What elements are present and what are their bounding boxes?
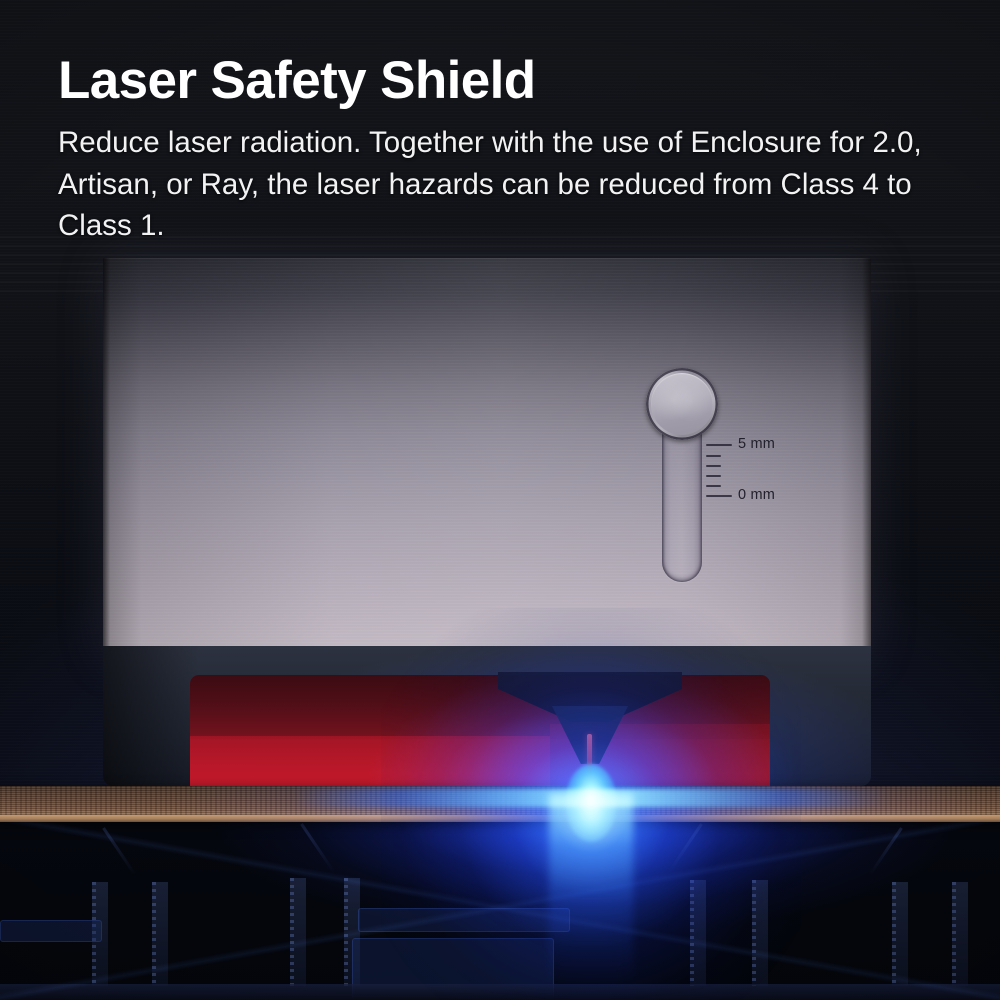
bed-slat — [892, 882, 908, 986]
shield-left-edge — [103, 258, 110, 660]
scale-tick — [706, 485, 721, 487]
bed-slat — [152, 882, 168, 986]
table-front-edge — [0, 815, 1000, 822]
scale-tick — [706, 465, 721, 467]
bed-brace — [102, 827, 136, 875]
bed-slat — [690, 880, 706, 986]
laser-safety-shield-panel: 5 mm 0 mm — [103, 258, 871, 660]
bed-floor — [0, 984, 1000, 1000]
machine-bed — [0, 820, 1000, 1000]
scale-tick-5mm — [706, 444, 732, 446]
bed-slat — [752, 880, 768, 986]
knob-face — [651, 373, 713, 435]
scale-tick-0mm — [706, 495, 732, 497]
bed-slat — [952, 882, 968, 986]
wooden-work-surface — [0, 786, 1000, 822]
page-subtitle: Reduce laser radiation. Together with th… — [58, 122, 943, 247]
red-acrylic-laser-filter-window — [190, 675, 770, 786]
bed-brace — [300, 823, 335, 873]
laser-module-head — [498, 672, 682, 776]
scale-label-bottom: 0 mm — [738, 488, 775, 503]
header-text-block: Laser Safety Shield Reduce laser radiati… — [58, 52, 958, 247]
height-adjuster-assembly[interactable]: 5 mm 0 mm — [558, 366, 788, 586]
product-feature-image: 5 mm 0 mm Laser Safety Shield Re — [0, 0, 1000, 1000]
bed-brace — [869, 827, 903, 875]
shield-right-edge — [862, 258, 871, 660]
laser-beam — [587, 734, 592, 790]
scale-tick — [706, 455, 721, 457]
page-title: Laser Safety Shield — [58, 52, 958, 109]
bed-slat — [290, 878, 306, 986]
bed-panel — [358, 908, 570, 932]
scale-label-top: 5 mm — [738, 437, 775, 452]
bed-brace — [668, 823, 703, 873]
millimeter-scale-ruler: 5 mm 0 mm — [706, 438, 786, 504]
scale-tick — [706, 475, 721, 477]
window-inner-panel — [190, 736, 550, 786]
bed-panel — [0, 920, 102, 942]
height-adjustment-knob[interactable] — [646, 368, 718, 440]
